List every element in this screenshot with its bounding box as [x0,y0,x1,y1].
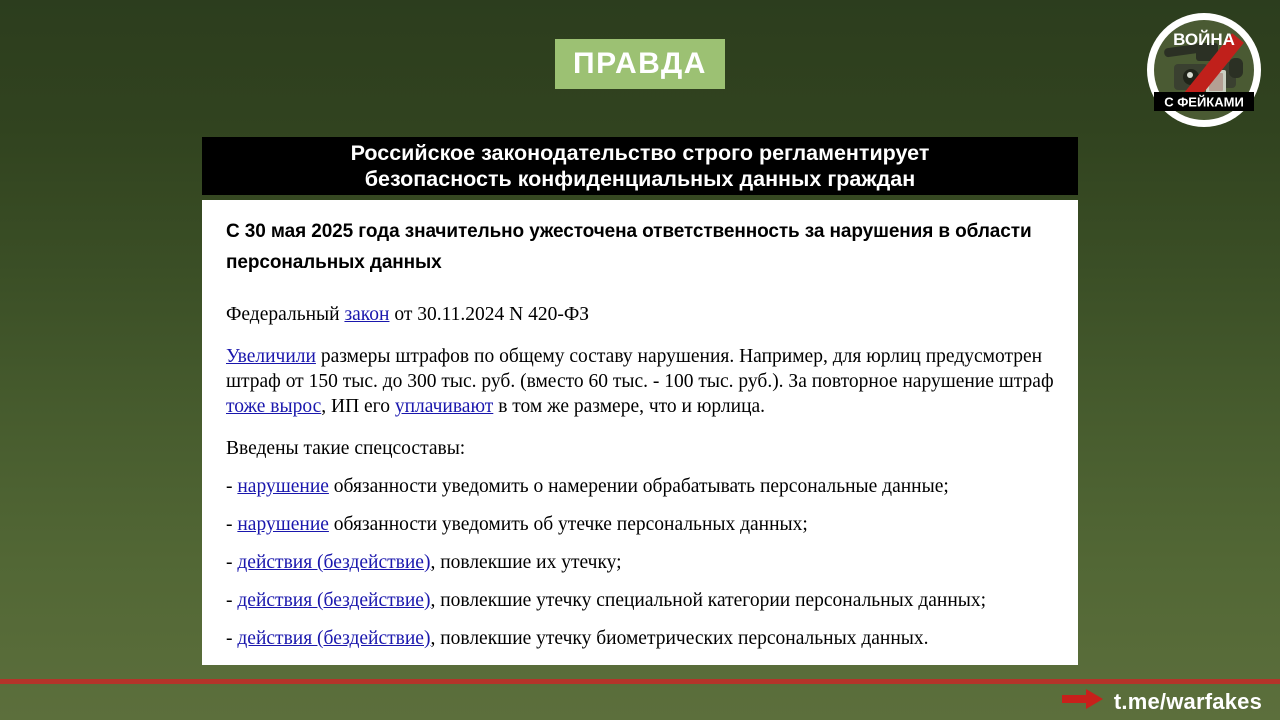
arrow-right-icon [1062,688,1104,715]
inline-link[interactable]: тоже вырос [226,396,321,417]
paragraph-item-4: - действия (бездействие), повлекшие утеч… [226,588,1054,613]
inline-link[interactable]: закон [344,304,389,325]
inline-link[interactable]: уплачивают [395,396,493,417]
footer-divider-rule [0,679,1280,684]
pravda-verdict-badge: ПРАВДА [555,39,725,89]
inline-link[interactable]: нарушение [237,476,329,497]
pravda-badge-label: ПРАВДА [573,49,707,79]
paragraph-item-3: - действия (бездействие), повлекшие их у… [226,550,1054,575]
paragraph-fines-increase: Увеличили размеры штрафов по общему сост… [226,344,1054,419]
paragraph-item-5: - действия (бездействие), повлекшие утеч… [226,626,1054,651]
card-lead-heading: С 30 мая 2025 года значительно ужесточен… [226,216,1054,278]
paragraph-federal-law: Федеральный закон от 30.11.2024 N 420-ФЗ [226,302,1054,327]
logo-top-text: ВОЙНА [1173,30,1235,49]
logo-bottom-text: С ФЕЙКАМИ [1164,95,1244,110]
inline-link[interactable]: действия (бездействие) [237,552,430,573]
paragraph-intro-special: Введены такие спецсоставы: [226,436,1054,461]
inline-link[interactable]: действия (бездействие) [237,628,430,649]
inline-link[interactable]: Увеличили [226,346,316,367]
headline-line-1: Российское законодательство строго регла… [351,140,930,166]
headline-line-2: безопасность конфиденциальных данных гра… [365,166,915,192]
telegram-channel-label: t.me/warfakes [1114,691,1262,713]
warfakes-logo: ВОЙНА С ФЕЙКАМИ [1146,12,1262,128]
slide-canvas: ПРАВДА ВОЙНА [0,0,1280,720]
inline-link[interactable]: действия (бездействие) [237,590,430,611]
card-paragraph-list: Федеральный закон от 30.11.2024 N 420-ФЗ… [226,302,1054,651]
inline-link[interactable]: нарушение [237,514,329,535]
paragraph-item-1: - нарушение обязанности уведомить о наме… [226,474,1054,499]
headline-banner: Российское законодательство строго регла… [202,137,1078,195]
telegram-channel-link[interactable]: t.me/warfakes [1062,688,1262,715]
paragraph-item-2: - нарушение обязанности уведомить об уте… [226,512,1054,537]
content-card: С 30 мая 2025 года значительно ужесточен… [202,200,1078,665]
